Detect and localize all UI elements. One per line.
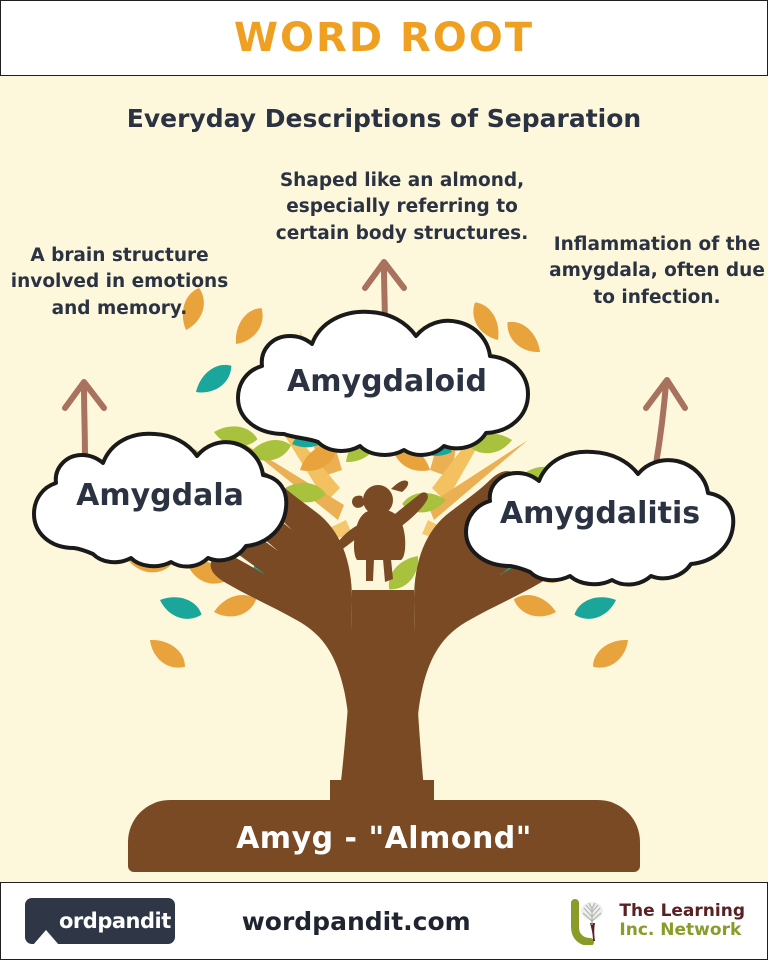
cloud-bubble-amygdala[interactable]: Amygdala [24,428,296,570]
the-learning-inc-network-text: The Learning Inc. Network [619,902,745,940]
partner-line-2: Inc. Network [619,921,745,940]
the-learning-inc-network-logo[interactable]: The Learning Inc. Network [567,897,745,945]
root-banner-label: Amyg - "Almond" [236,821,532,856]
description-center: Shaped like an almond, especially referr… [247,168,557,247]
root-banner: Amyg - "Almond" [128,800,640,872]
description-right: Inflammation of the amygdala, often due … [546,232,768,311]
wordpandit-logo[interactable]: ordpandit [25,898,175,944]
header-band: WORD ROOT [0,0,768,76]
description-left: A brain structure involved in emotions a… [2,243,237,322]
tree-in-u-icon [567,897,613,945]
page-title: WORD ROOT [234,15,534,61]
bookmark-notch-icon [33,930,59,945]
wordpandit-logo-text: ordpandit [59,909,171,933]
partner-line-1: The Learning [619,902,745,921]
cloud-bubble-amygdalitis[interactable]: Amygdalitis [456,446,744,588]
footer-website-url[interactable]: wordpandit.com [145,907,567,936]
subtitle: Everyday Descriptions of Separation [0,104,768,133]
infographic-page: WORD ROOT Everyday Descriptions of Separ… [0,0,768,960]
footer-band: ordpandit wordpandit.com The Learning In… [0,882,768,960]
